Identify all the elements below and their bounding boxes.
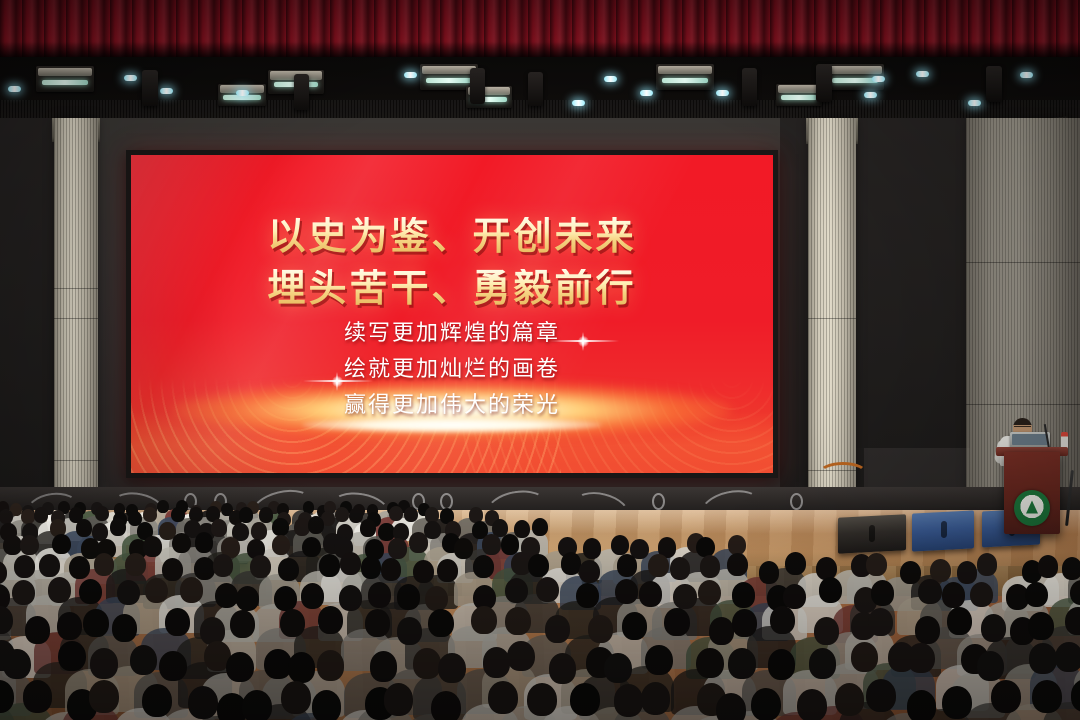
hanging-speaker bbox=[742, 68, 757, 106]
audience-member-head bbox=[117, 580, 140, 605]
audience-member-head bbox=[76, 519, 92, 537]
audience-member-head bbox=[130, 645, 158, 675]
audience-member-head bbox=[501, 534, 520, 555]
audience-member-head bbox=[728, 648, 756, 678]
audience-member-head bbox=[482, 534, 501, 555]
audience-member-head bbox=[213, 554, 234, 577]
audience-member-head bbox=[614, 684, 644, 717]
hanging-speaker bbox=[986, 66, 1002, 102]
audience-member-head bbox=[770, 606, 795, 634]
stage-light-fixture bbox=[656, 64, 714, 90]
audience-member-head bbox=[785, 552, 806, 575]
audience-member-head bbox=[918, 579, 941, 604]
truss-indicator-light bbox=[716, 90, 729, 96]
audience-member-head bbox=[871, 580, 894, 605]
audience-member-head bbox=[942, 582, 965, 607]
audience-member-head bbox=[3, 649, 31, 679]
audience-member-head bbox=[639, 581, 662, 606]
audience-member-head bbox=[112, 614, 137, 642]
audience-member-head bbox=[23, 680, 53, 713]
audience-member-head bbox=[12, 580, 35, 605]
audience-member-head bbox=[561, 552, 582, 575]
audience-member-head bbox=[188, 686, 218, 719]
truss-indicator-light bbox=[404, 72, 417, 78]
pillar-seam bbox=[808, 318, 856, 319]
audience-member-head bbox=[239, 507, 253, 523]
audience-member-head bbox=[1055, 642, 1080, 672]
screen-headline-line2: 埋头苦干、勇毅前行 bbox=[131, 269, 773, 307]
audience-member-head bbox=[278, 558, 299, 581]
audience-member-head bbox=[20, 535, 39, 556]
audience-member-head bbox=[583, 538, 602, 559]
audience-member-head bbox=[977, 553, 998, 576]
audience-member-head bbox=[809, 648, 837, 678]
audience-member-head bbox=[388, 538, 407, 559]
audience-member-head bbox=[365, 609, 390, 637]
audience-member-head bbox=[604, 653, 632, 683]
audience-member-head bbox=[727, 553, 748, 576]
audience-member-head bbox=[797, 689, 827, 720]
audience-member-head bbox=[1029, 643, 1057, 673]
floor-cable-coil bbox=[818, 462, 868, 486]
audience-member-head bbox=[281, 681, 311, 714]
audience-member-head bbox=[171, 507, 185, 523]
audience-member-head bbox=[384, 683, 414, 716]
audience-member-head bbox=[732, 609, 757, 637]
audience-member-head bbox=[545, 615, 570, 643]
audience-member-head bbox=[274, 586, 297, 611]
wall-panel-seam bbox=[966, 262, 1080, 263]
audience-member-head bbox=[670, 557, 691, 580]
back-wall-dark-panel bbox=[0, 118, 60, 490]
audience-member-head bbox=[381, 558, 402, 581]
audience-member-head bbox=[157, 500, 169, 513]
audience-member-head bbox=[52, 534, 71, 555]
audience-member-head bbox=[280, 609, 305, 637]
audience-member-head bbox=[942, 686, 972, 719]
audience-member-head bbox=[622, 612, 647, 640]
audience-member-head bbox=[947, 607, 972, 635]
audience-member-head bbox=[471, 606, 496, 634]
audience-member-head bbox=[25, 616, 50, 644]
audience-member-head bbox=[579, 560, 600, 583]
audience-member-head bbox=[732, 582, 755, 607]
audience-member-head bbox=[759, 561, 780, 584]
audience-member-head bbox=[615, 579, 638, 604]
audience-member-head bbox=[957, 561, 978, 584]
audience-member-head bbox=[404, 507, 418, 523]
audience-member-head bbox=[288, 652, 316, 682]
led-screen[interactable]: 以史为鉴、开创未来 埋头苦干、勇毅前行 续写更加辉煌的篇章 绘就更加灿烂的画卷 … bbox=[126, 150, 778, 478]
audience-member-head bbox=[361, 556, 382, 579]
audience-member-head bbox=[428, 609, 453, 637]
audience-member-head bbox=[211, 519, 227, 537]
audience-member-head bbox=[814, 617, 839, 645]
audience-member-head bbox=[617, 554, 638, 577]
pillar-seam bbox=[54, 460, 98, 461]
audience-member-head bbox=[58, 641, 86, 671]
audience-crowd bbox=[0, 498, 1080, 720]
audience-member-head bbox=[95, 506, 109, 522]
truss-indicator-light bbox=[236, 90, 249, 96]
audience-member-head bbox=[14, 555, 35, 578]
screen-subline-3: 赢得更加伟大的荣光 bbox=[131, 395, 773, 417]
audience-member-head bbox=[413, 560, 434, 583]
audience-member-head bbox=[819, 577, 842, 602]
audience-member-head bbox=[302, 537, 321, 558]
audience-member-head bbox=[340, 552, 361, 575]
audience-member-head bbox=[143, 536, 162, 557]
hanging-speaker bbox=[470, 68, 485, 104]
audience-member-head bbox=[236, 586, 259, 611]
back-wall-dark-center bbox=[840, 118, 970, 448]
audience-member-head bbox=[588, 615, 613, 643]
audience-member-head bbox=[977, 651, 1005, 681]
audience-member-head bbox=[611, 535, 630, 556]
audience-member-head bbox=[991, 680, 1021, 713]
truss-indicator-light bbox=[604, 76, 617, 82]
audience-member-head bbox=[360, 519, 376, 537]
audience-member-head bbox=[438, 653, 466, 683]
audience-member-head bbox=[981, 614, 1006, 642]
audience-member-head bbox=[319, 554, 340, 577]
screen-headline-line1: 以史为鉴、开创未来 bbox=[131, 217, 773, 255]
audience-member-head bbox=[308, 516, 324, 534]
audience-member-head bbox=[317, 650, 345, 680]
audience-member-head bbox=[1038, 555, 1059, 578]
audience-member-head bbox=[431, 691, 461, 720]
audience-member-head bbox=[868, 608, 893, 636]
audience-member-head bbox=[866, 679, 896, 712]
audience-member-head bbox=[783, 584, 806, 609]
audience-member-head bbox=[514, 520, 530, 538]
audience-member-head bbox=[1032, 680, 1062, 713]
auditorium-photo: 以史为鉴、开创未来 埋头苦干、勇毅前行 续写更加辉煌的篇章 绘就更加灿烂的画卷 … bbox=[0, 0, 1080, 720]
audience-member-head bbox=[505, 578, 528, 603]
pillar-seam bbox=[54, 318, 98, 319]
right-pillar bbox=[808, 118, 856, 490]
audience-member-head bbox=[700, 555, 721, 578]
audience-member-head bbox=[664, 608, 689, 636]
audience-member-head bbox=[165, 608, 190, 636]
audience-member-head bbox=[142, 684, 172, 717]
audience-member-head bbox=[907, 643, 935, 673]
audience-member-head bbox=[673, 584, 696, 609]
truss-indicator-light bbox=[872, 76, 885, 82]
audience-member-head bbox=[532, 518, 548, 536]
audience-member-head bbox=[709, 617, 734, 645]
audience-member-head bbox=[69, 556, 90, 579]
audience-member-head bbox=[425, 507, 439, 523]
left-pillar bbox=[54, 118, 98, 490]
audience-member-head bbox=[94, 553, 115, 576]
audience-member-head bbox=[125, 553, 146, 576]
audience-member-head bbox=[970, 582, 993, 607]
audience-member-head bbox=[194, 557, 215, 580]
audience-member-head bbox=[473, 555, 494, 578]
audience-member-head bbox=[250, 555, 271, 578]
audience-member-head bbox=[409, 532, 428, 553]
audience-member-head bbox=[1062, 557, 1080, 580]
audience-member-head bbox=[507, 641, 535, 671]
screen-subline-1: 续写更加辉煌的篇章 bbox=[131, 323, 773, 345]
audience-member-head bbox=[528, 554, 549, 577]
audience-member-head bbox=[527, 683, 557, 716]
audience-member-head bbox=[39, 554, 60, 577]
audience-member-head bbox=[368, 582, 391, 607]
truss-indicator-light bbox=[8, 86, 21, 92]
audience-member-head bbox=[900, 561, 921, 584]
stage-light-fixture bbox=[36, 66, 94, 92]
audience-member-head bbox=[83, 609, 108, 637]
audience-member-head bbox=[79, 579, 102, 604]
audience-member-head bbox=[648, 554, 669, 577]
led-screen-content: 以史为鉴、开创未来 埋头苦干、勇毅前行 续写更加辉煌的篇章 绘就更加灿烂的画卷 … bbox=[131, 155, 773, 473]
audience-member-head bbox=[89, 680, 119, 713]
audience-member-head bbox=[570, 683, 600, 716]
audience-member-head bbox=[549, 653, 577, 683]
audience-member-head bbox=[143, 507, 157, 523]
truss-indicator-light bbox=[968, 100, 981, 106]
audience-member-head bbox=[349, 508, 363, 524]
audience-member-head bbox=[195, 532, 214, 553]
audience-member-head bbox=[835, 683, 865, 716]
truss-indicator-light bbox=[1020, 72, 1033, 78]
stage-curtain bbox=[0, 0, 1080, 58]
truss-indicator-light bbox=[124, 75, 137, 81]
audience-member-head bbox=[272, 535, 291, 556]
audience-member-head bbox=[915, 616, 940, 644]
audience-member-head bbox=[259, 507, 273, 523]
audience-member-head bbox=[1065, 607, 1080, 635]
audience-member-head bbox=[751, 688, 781, 720]
audience-member-head bbox=[339, 585, 362, 610]
audience-member-head bbox=[768, 649, 796, 679]
glasses-icon bbox=[1014, 426, 1031, 430]
hanging-speaker bbox=[142, 70, 158, 106]
audience-member-head bbox=[645, 645, 673, 675]
audience-member-head bbox=[576, 583, 599, 608]
audience-member-head bbox=[698, 580, 721, 605]
audience-member-head bbox=[242, 690, 272, 720]
audience-member-head bbox=[159, 651, 187, 681]
audience-member-head bbox=[397, 617, 422, 645]
audience-member-head bbox=[48, 577, 71, 602]
wall-panel-seam bbox=[966, 404, 1080, 405]
audience-member-head bbox=[425, 586, 448, 611]
audience-member-head bbox=[162, 558, 183, 581]
presenter-laptop bbox=[1010, 432, 1050, 448]
truss-indicator-light bbox=[160, 88, 173, 94]
audience-member-head bbox=[312, 690, 342, 720]
audience-member-head bbox=[318, 606, 343, 634]
audience-member-head bbox=[335, 507, 349, 523]
audience-member-head bbox=[437, 559, 458, 582]
audience-member-head bbox=[34, 507, 48, 523]
hanging-speaker bbox=[528, 72, 543, 106]
audience-member-head bbox=[301, 583, 324, 608]
audience-member-head bbox=[90, 648, 118, 678]
audience-member-head bbox=[230, 610, 255, 638]
screen-subline-2: 绘就更加灿烂的画卷 bbox=[131, 359, 773, 381]
audience-member-head bbox=[215, 583, 238, 608]
audience-member-head bbox=[370, 651, 398, 681]
audience-member-head bbox=[3, 535, 22, 556]
audience-member-head bbox=[907, 690, 937, 720]
audience-member-head bbox=[397, 584, 420, 609]
audience-member-head bbox=[251, 522, 267, 540]
audience-member-head bbox=[536, 577, 559, 602]
audience-member-head bbox=[226, 652, 254, 682]
audience-member-head bbox=[488, 681, 518, 714]
audience-member-head bbox=[1028, 612, 1053, 640]
audience-member-head bbox=[641, 682, 671, 715]
audience-member-head bbox=[454, 538, 473, 559]
hanging-speaker bbox=[294, 74, 309, 110]
audience-member-head bbox=[696, 648, 724, 678]
audience-member-head bbox=[180, 577, 203, 602]
audience-member-head bbox=[505, 607, 530, 635]
audience-member-head bbox=[272, 518, 288, 536]
audience-member-head bbox=[145, 578, 168, 603]
audience-member-head bbox=[110, 518, 126, 536]
pillar-seam bbox=[54, 288, 98, 289]
truss-indicator-light bbox=[916, 71, 929, 77]
audience-member-head bbox=[389, 506, 403, 522]
audience-member-head bbox=[483, 647, 511, 677]
audience-member-head bbox=[1025, 582, 1048, 607]
truss-indicator-light bbox=[572, 100, 585, 106]
audience-member-head bbox=[696, 537, 715, 558]
audience-member-head bbox=[57, 612, 82, 640]
audience-member-head bbox=[172, 533, 191, 554]
truss-indicator-light bbox=[864, 92, 877, 98]
audience-member-head bbox=[413, 648, 441, 678]
audience-member-head bbox=[851, 642, 879, 672]
screen-text-block: 以史为鉴、开创未来 埋头苦干、勇毅前行 续写更加辉煌的篇章 绘就更加灿烂的画卷 … bbox=[131, 155, 773, 473]
truss-indicator-light bbox=[640, 90, 653, 96]
hanging-speaker bbox=[816, 64, 832, 102]
audience-member-head bbox=[866, 553, 887, 576]
